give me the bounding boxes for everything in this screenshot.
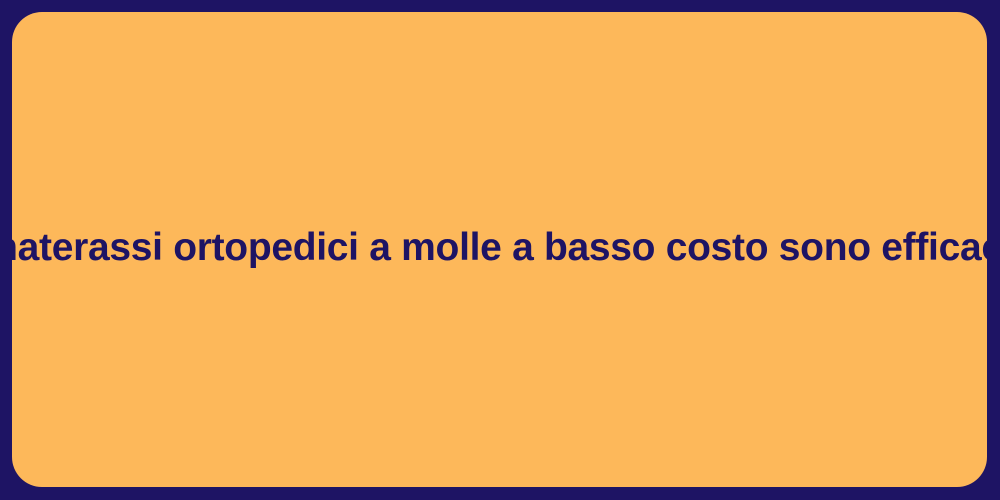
card-frame: I materassi ortopedici a molle a basso c… [0,0,1000,500]
page-title: I materassi ortopedici a molle a basso c… [12,225,987,272]
card-panel: I materassi ortopedici a molle a basso c… [12,12,987,487]
